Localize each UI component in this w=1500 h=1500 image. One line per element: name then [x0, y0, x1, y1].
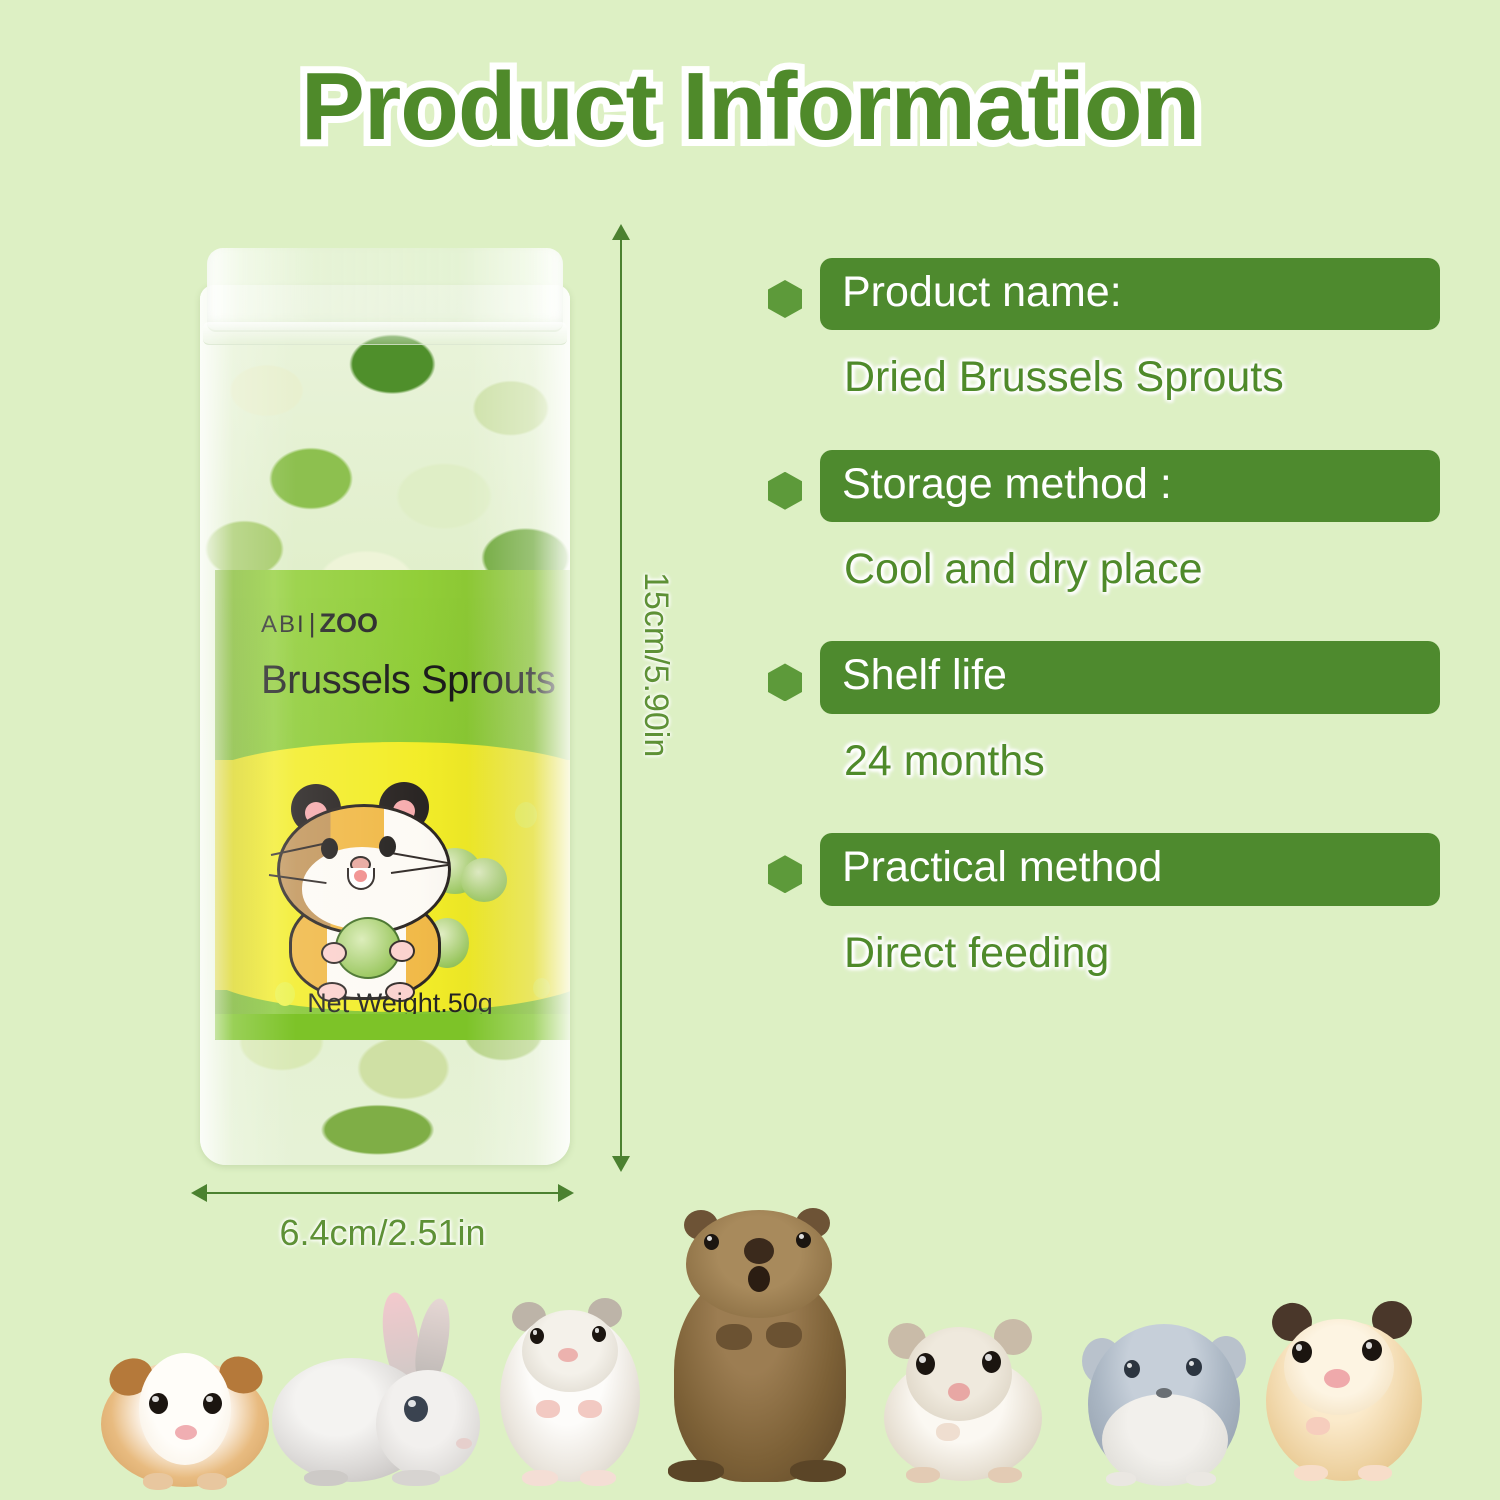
info-heading-practical-method: Practical method	[820, 833, 1440, 905]
brand-suffix-text: ZOO	[319, 608, 378, 639]
page-title: Product Information	[301, 52, 1199, 162]
info-heading-shelf-life: Shelf life	[820, 641, 1440, 713]
info-row-practical-method: Practical method Direct feeding	[760, 833, 1440, 977]
label-product-name: Brussels Sprouts	[261, 658, 555, 703]
hamster-paw-left	[321, 942, 347, 964]
product-info-panel: Product name: Dried Brussels Sprouts Sto…	[760, 258, 1440, 1025]
chinchilla-photo	[1080, 1312, 1248, 1492]
hamster-paw-right	[389, 940, 415, 962]
hamster-holding-sprout-icon	[275, 782, 475, 997]
width-dimension-arrow	[205, 1192, 560, 1194]
page-title-container: Product Information	[0, 52, 1500, 162]
brand-logo: ABI | ZOO	[261, 608, 378, 639]
net-weight-text: Net Weight.50g	[215, 988, 570, 1019]
hexagon-bullet-icon	[768, 855, 802, 893]
info-row-storage-method: Storage method : Cool and dry place	[760, 450, 1440, 594]
guinea-pig-photo	[95, 1327, 275, 1492]
label-dot-decor	[515, 802, 537, 828]
grey-rabbit-photo	[268, 1292, 488, 1492]
brand-prefix-text: ABI	[261, 611, 306, 639]
golden-hamster-photo	[1258, 1297, 1428, 1492]
info-detail-product-name: Dried Brussels Sprouts	[844, 354, 1440, 401]
hamster-eye-right	[379, 836, 396, 857]
brand-separator-text: |	[309, 608, 317, 639]
jar-neck-ring	[203, 322, 567, 345]
info-detail-shelf-life: 24 months	[844, 738, 1440, 785]
hexagon-bullet-icon	[768, 472, 802, 510]
height-dimension-arrow	[620, 238, 622, 1158]
suitable-animals-strip	[0, 1200, 1500, 1500]
info-heading-storage-method: Storage method :	[820, 450, 1440, 522]
info-row-shelf-life: Shelf life 24 months	[760, 641, 1440, 785]
info-row-product-name: Product name: Dried Brussels Sprouts	[760, 258, 1440, 402]
info-heading-product-name: Product name:	[820, 258, 1440, 330]
arrow-head-up-icon	[612, 224, 630, 240]
sprout-decor-icon	[461, 858, 507, 902]
hamster-eye-left	[321, 838, 338, 859]
info-detail-practical-method: Direct feeding	[844, 930, 1440, 977]
height-dimension-label: 15cm/5.90in	[636, 572, 675, 757]
jar-lid	[207, 248, 563, 332]
gerbil-photo	[878, 1307, 1048, 1492]
hexagon-bullet-icon	[768, 280, 802, 318]
jar-label: ABI | ZOO Brussels Sprouts	[215, 570, 570, 1040]
info-detail-storage-method: Cool and dry place	[844, 546, 1440, 593]
dwarf-hamster-photo	[496, 1292, 646, 1492]
jar-glass-body: ABI | ZOO Brussels Sprouts	[200, 285, 570, 1165]
arrow-head-down-icon	[612, 1156, 630, 1172]
product-jar: ABI | ZOO Brussels Sprouts	[185, 230, 585, 1160]
hexagon-bullet-icon	[768, 663, 802, 701]
groundhog-photo	[660, 1202, 860, 1492]
